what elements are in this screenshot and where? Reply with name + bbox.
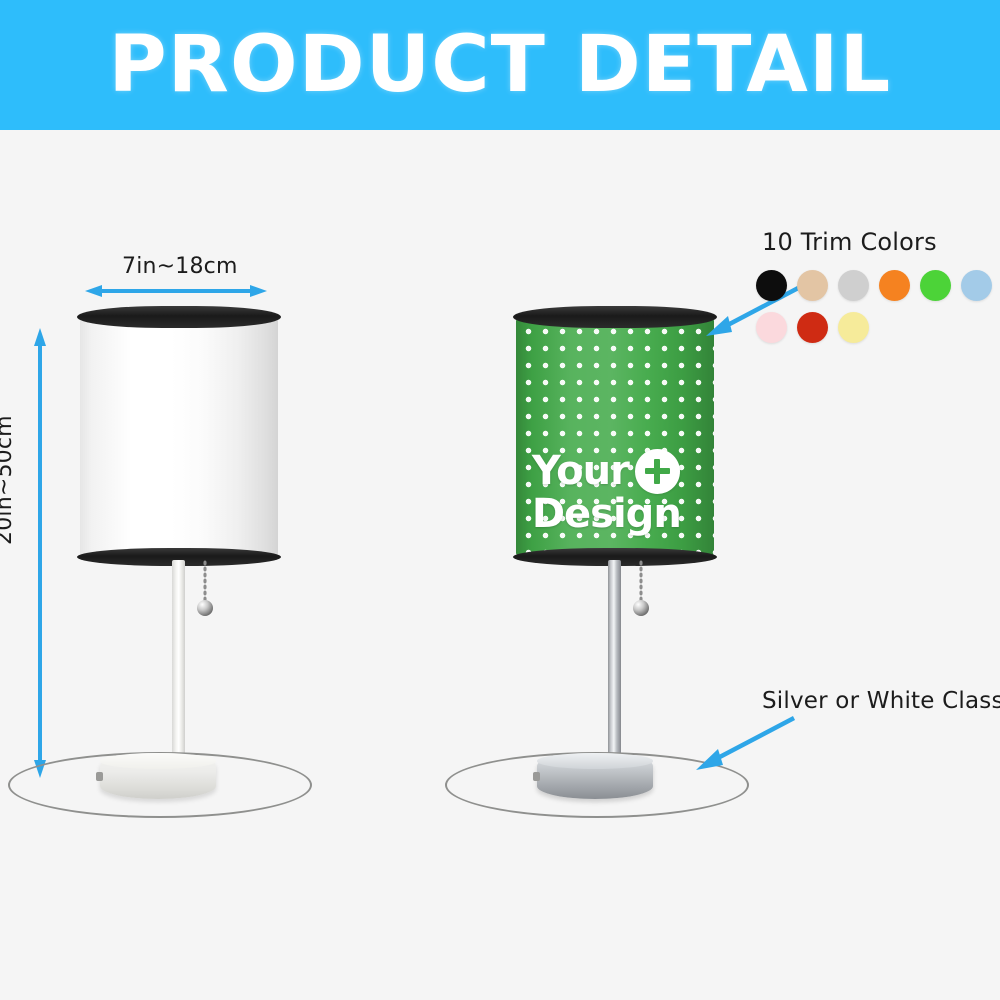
chain-beads <box>203 560 207 602</box>
white-lamp-base-top <box>100 753 216 769</box>
swatch-red[interactable] <box>797 312 828 343</box>
trim-colors-label: 10 Trim Colors <box>762 228 937 256</box>
white-lamp-base-disc <box>100 753 216 799</box>
white-shade-surface <box>80 318 278 556</box>
chain-ball <box>197 600 213 616</box>
chain-ball <box>633 600 649 616</box>
width-dimension-label: 7in~18cm <box>122 254 238 279</box>
swatch-pink[interactable] <box>756 312 787 343</box>
white-shade-trim-top <box>77 306 281 328</box>
white-lamp-cord-nub <box>96 772 103 781</box>
width-dimension-arrow <box>85 284 267 298</box>
plus-icon <box>635 449 680 494</box>
white-lamp-base-group <box>8 752 308 814</box>
trim-color-swatches[interactable] <box>756 270 1000 343</box>
design-line-1: Your <box>532 449 680 494</box>
swatch-green[interactable] <box>920 270 951 301</box>
design-line-2: Design <box>532 494 681 535</box>
green-lamp-base-disc <box>537 753 653 799</box>
swatch-light-blue[interactable] <box>961 270 992 301</box>
swatch-yellow[interactable] <box>838 312 869 343</box>
white-lamp-pull-chain <box>203 560 207 602</box>
swatch-tan[interactable] <box>797 270 828 301</box>
your-design-placeholder: Your Design <box>532 449 681 535</box>
chain-beads <box>639 560 643 602</box>
green-lamp-cord-nub <box>533 772 540 781</box>
height-dimension-arrow <box>32 328 48 778</box>
header-banner: PRODUCT DETAIL <box>0 0 1000 130</box>
base-finish-pointer-arrow <box>690 712 802 774</box>
swatch-orange[interactable] <box>879 270 910 301</box>
green-lamp-base-top <box>537 753 653 769</box>
design-text-your: Your <box>532 451 629 492</box>
height-dimension-label: 20in~50cm <box>0 415 17 545</box>
base-finish-label: Silver or White Classy <box>762 688 1000 714</box>
swatch-light-gray[interactable] <box>838 270 869 301</box>
white-lamp-shade <box>80 318 278 556</box>
white-lamp-pole <box>172 560 185 760</box>
green-lamp-pull-chain <box>639 560 643 602</box>
green-lamp-shade: Your Design <box>516 318 714 556</box>
design-text-design: Design <box>532 494 681 535</box>
page-title: PRODUCT DETAIL <box>109 26 892 104</box>
green-shade-trim-top <box>513 306 717 328</box>
green-lamp-pole <box>608 560 621 760</box>
product-detail-infographic: PRODUCT DETAIL 7in~18cm 20in~50cm <box>0 0 1000 1000</box>
swatch-black[interactable] <box>756 270 787 301</box>
